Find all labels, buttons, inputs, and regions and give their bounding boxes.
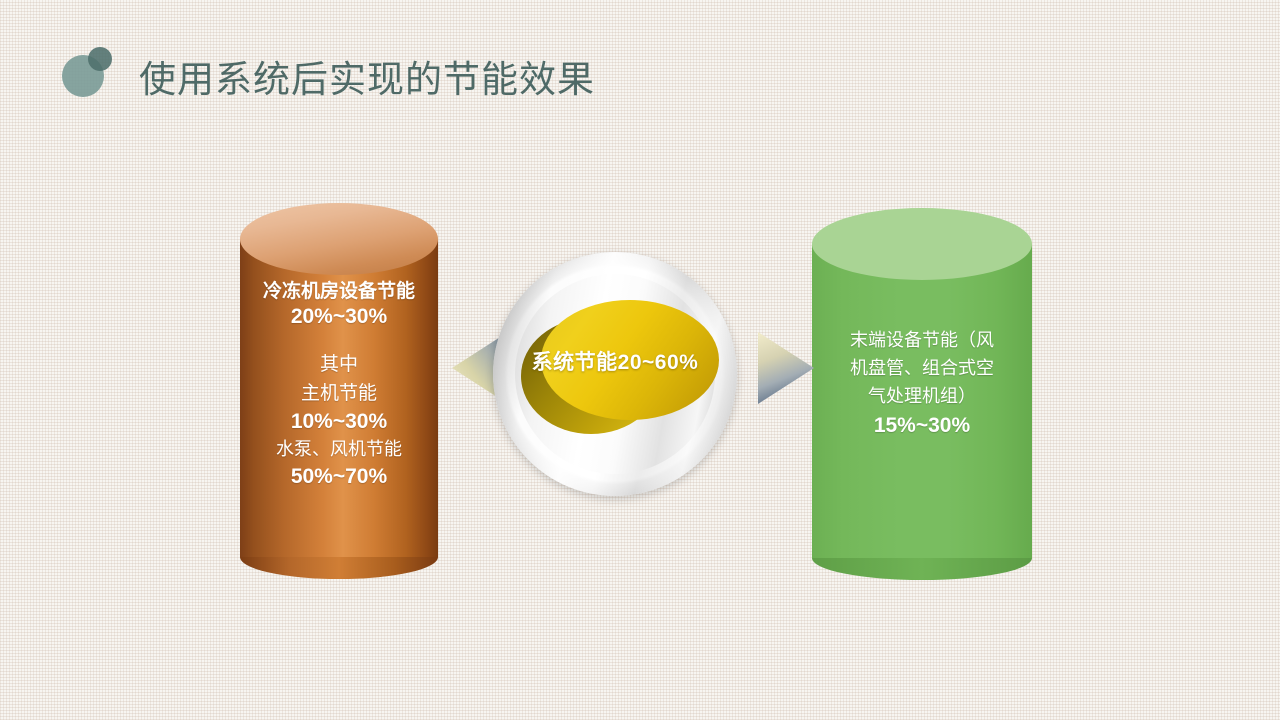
left-text-spacer <box>240 330 438 350</box>
page-title: 使用系统后实现的节能效果 <box>139 56 595 104</box>
left-cylinder-top <box>240 203 438 275</box>
right-label-line-1: 末端设备节能（风 <box>830 326 1014 354</box>
center-disc: 系统节能20~60% <box>493 252 737 496</box>
left-subheading: 其中 <box>240 350 438 379</box>
left-item2-value: 50%~70% <box>240 463 438 491</box>
left-heading-value: 20%~30% <box>240 304 438 330</box>
logo-small-circle-icon <box>88 47 112 71</box>
left-heading: 冷冻机房设备节能 <box>240 279 438 304</box>
slide-logo-icon <box>62 47 112 97</box>
right-cylinder: 末端设备节能（风 机盘管、组合式空 气处理机组） 15%~30% <box>812 208 1032 580</box>
left-item2-label: 水泵、风机节能 <box>240 436 438 463</box>
left-cylinder: 冷冻机房设备节能 20%~30% 其中 主机节能 10%~30% 水泵、风机节能… <box>240 203 438 579</box>
right-label-line-2: 机盘管、组合式空 <box>830 354 1014 382</box>
right-value: 15%~30% <box>830 410 1014 442</box>
right-cylinder-text: 末端设备节能（风 机盘管、组合式空 气处理机组） 15%~30% <box>812 326 1032 442</box>
arrow-right-icon <box>758 332 814 404</box>
center-label: 系统节能20~60% <box>493 346 737 376</box>
right-label-line-3: 气处理机组） <box>830 382 1014 410</box>
left-cylinder-text: 冷冻机房设备节能 20%~30% 其中 主机节能 10%~30% 水泵、风机节能… <box>240 279 438 491</box>
left-item1-value: 10%~30% <box>240 408 438 436</box>
slide-canvas: 使用系统后实现的节能效果 冷冻机房设备节能 20%~30% 其中 主机节能 10… <box>0 0 1280 720</box>
left-item1-label: 主机节能 <box>240 379 438 408</box>
right-cylinder-top <box>812 208 1032 280</box>
